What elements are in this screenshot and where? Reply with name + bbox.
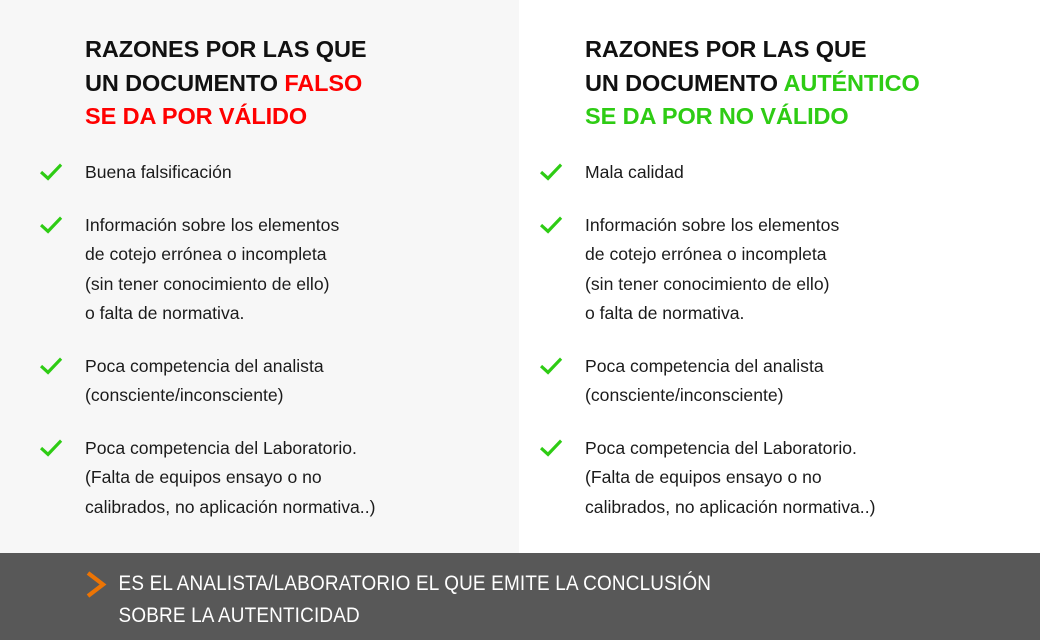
list-item: Poca competencia del Laboratorio. (Falta…: [538, 434, 875, 523]
list-item-label: Información sobre los elementos de cotej…: [572, 211, 875, 329]
right-heading-emphasis-autentico: AUTÉNTICO: [783, 70, 919, 96]
check-icon: [38, 355, 72, 380]
chevron-right-icon: [84, 569, 108, 601]
right-heading-line3: SE DA POR NO VÁLIDO: [585, 103, 849, 129]
panel-documento-falso: RAZONES POR LAS QUE UN DOCUMENTO FALSO S…: [0, 0, 519, 553]
list-item-label: Mala calidad: [572, 158, 875, 188]
list-item: Información sobre los elementos de cotej…: [38, 211, 375, 329]
right-heading-line2-prefix: UN DOCUMENTO: [585, 70, 783, 96]
footer-conclusion-text: ES EL ANALISTA/LABORATORIO EL QUE EMITE …: [108, 567, 711, 631]
slide-root: RAZONES POR LAS QUE UN DOCUMENTO FALSO S…: [0, 0, 1040, 640]
left-heading-emphasis-falso: FALSO: [284, 70, 362, 96]
check-icon: [38, 161, 72, 186]
left-bullet-list: Buena falsificación Información sobre lo…: [38, 158, 375, 522]
comparison-panels: RAZONES POR LAS QUE UN DOCUMENTO FALSO S…: [0, 0, 1040, 553]
left-heading-line1: RAZONES POR LAS QUE: [85, 36, 366, 62]
check-icon: [538, 355, 572, 380]
left-heading-line3: SE DA POR VÁLIDO: [85, 103, 307, 129]
right-heading-line1: RAZONES POR LAS QUE: [585, 36, 866, 62]
left-panel-heading: RAZONES POR LAS QUE UN DOCUMENTO FALSO S…: [85, 33, 366, 134]
footer-content: ES EL ANALISTA/LABORATORIO EL QUE EMITE …: [84, 567, 793, 631]
panel-documento-autentico: RAZONES POR LAS QUE UN DOCUMENTO AUTÉNTI…: [519, 0, 1040, 553]
left-heading-line2-prefix: UN DOCUMENTO: [85, 70, 284, 96]
check-icon: [538, 437, 572, 462]
list-item: Buena falsificación: [38, 158, 375, 188]
check-icon: [538, 161, 572, 186]
check-icon: [538, 214, 572, 239]
footer-banner: ES EL ANALISTA/LABORATORIO EL QUE EMITE …: [0, 553, 1040, 640]
list-item-label: Poca competencia del Laboratorio. (Falta…: [72, 434, 375, 523]
check-icon: [38, 437, 72, 462]
check-icon: [38, 214, 72, 239]
list-item: Poca competencia del analista (conscient…: [38, 352, 375, 411]
right-bullet-list: Mala calidad Información sobre los eleme…: [538, 158, 875, 522]
list-item-label: Información sobre los elementos de cotej…: [72, 211, 375, 329]
list-item-label: Poca competencia del Laboratorio. (Falta…: [572, 434, 875, 523]
list-item: Mala calidad: [538, 158, 875, 188]
list-item-label: Buena falsificación: [72, 158, 375, 188]
list-item-label: Poca competencia del analista (conscient…: [572, 352, 875, 411]
right-panel-heading: RAZONES POR LAS QUE UN DOCUMENTO AUTÉNTI…: [585, 33, 920, 134]
list-item: Poca competencia del Laboratorio. (Falta…: [38, 434, 375, 523]
list-item-label: Poca competencia del analista (conscient…: [72, 352, 375, 411]
list-item: Poca competencia del analista (conscient…: [538, 352, 875, 411]
list-item: Información sobre los elementos de cotej…: [538, 211, 875, 329]
